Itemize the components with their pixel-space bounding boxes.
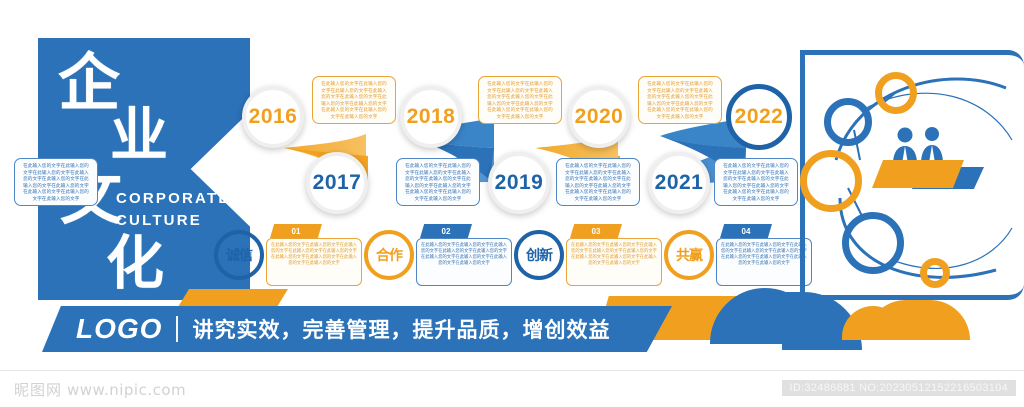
timeline-year-2021[interactable]: 2021 bbox=[648, 152, 710, 214]
value-number-tag: 04 bbox=[720, 224, 772, 238]
timeline: 2016 2017 2018 2019 2020 2021 2022 在此输入您… bbox=[236, 62, 796, 222]
value-text: 在此输入您的文字在此输入您的文字在此输入您的文字在此输入您的文字在此输入您的文字… bbox=[266, 238, 362, 286]
ribbon-divider bbox=[176, 316, 178, 342]
timeline-year-2016[interactable]: 2016 bbox=[242, 86, 304, 148]
watermark-site-url: www.nipic.com bbox=[67, 381, 186, 399]
timeline-year-2017[interactable]: 2017 bbox=[306, 152, 368, 214]
timeline-text-2020: 在此输入您的文字在此输入您的文字在此输入您的文字在此输入您的文字在此输入您的文字… bbox=[638, 76, 722, 124]
footer-watermark-bar: 昵图网 www.nipic.com ID:32486681 NO:2023051… bbox=[0, 370, 1024, 407]
value-pillar-gongying[interactable]: 共赢 04 在此输入您的文字在此输入您的文字在此输入您的文字在此输入您的文字在此… bbox=[664, 224, 814, 296]
slogan-text: 讲究实效，完善管理，提升品质，增创效益 bbox=[192, 314, 610, 344]
title-english-line1: CORPORATE bbox=[116, 188, 231, 210]
timeline-text-2021: 在此输入您的文字在此输入您的文字在此输入您的文字在此输入您的文字在此输入您的文字… bbox=[556, 158, 640, 206]
value-pillar-chengxin[interactable]: 诚信 01 在此输入您的文字在此输入您的文字在此输入您的文字在此输入您的文字在此… bbox=[214, 224, 364, 296]
value-ring-icon: 诚信 bbox=[214, 230, 264, 280]
site-watermark: 昵图网 www.nipic.com bbox=[14, 379, 186, 400]
timeline-text-2019: 在此输入您的文字在此输入您的文字在此输入您的文字在此输入您的文字在此输入您的文字… bbox=[396, 158, 480, 206]
value-number-tag: 02 bbox=[420, 224, 472, 238]
value-ring-icon: 创新 bbox=[514, 230, 564, 280]
value-number-tag: 03 bbox=[570, 224, 622, 238]
value-text: 在此输入您的文字在此输入您的文字在此输入您的文字在此输入您的文字在此输入您的文字… bbox=[416, 238, 512, 286]
poster-canvas: 企 业 文 化 CORPORATE CULTURE bbox=[0, 0, 1024, 406]
image-id-badge: ID:32486681 NO:20230512152216503104 bbox=[782, 380, 1016, 396]
bottom-ribbon: LOGO 讲究实效，完善管理，提升品质，增创效益 bbox=[42, 306, 672, 352]
value-word: 共赢 bbox=[676, 245, 702, 265]
value-word: 创新 bbox=[526, 245, 552, 265]
circle-ring-orange-1 bbox=[875, 72, 917, 114]
timeline-text-2016: 在此输入您的文字在此输入您的文字在此输入您的文字在此输入您的文字在此输入您的文字… bbox=[312, 76, 396, 124]
timeline-text-2022: 在此输入您的文字在此输入您的文字在此输入您的文字在此输入您的文字在此输入您的文字… bbox=[714, 158, 798, 206]
title-char-4: 化 bbox=[106, 234, 164, 292]
value-ring-icon: 共赢 bbox=[664, 230, 714, 280]
year-label: 2019 bbox=[495, 171, 544, 195]
logo-text: LOGO bbox=[76, 313, 162, 345]
timeline-year-2019[interactable]: 2019 bbox=[488, 152, 550, 214]
value-word: 合作 bbox=[376, 245, 402, 265]
year-label: 2017 bbox=[313, 171, 362, 195]
year-label: 2021 bbox=[655, 171, 704, 195]
value-pillars: 诚信 01 在此输入您的文字在此输入您的文字在此输入您的文字在此输入您的文字在此… bbox=[214, 224, 814, 296]
timeline-year-2022[interactable]: 2022 bbox=[726, 84, 792, 150]
year-label: 2022 bbox=[735, 105, 784, 129]
ribbon-accent-small bbox=[178, 289, 288, 307]
year-label: 2020 bbox=[575, 105, 624, 129]
circle-ring-orange-2 bbox=[800, 150, 862, 212]
watermark-site-name-cn: 昵图网 bbox=[14, 379, 62, 400]
artwork-area: 企 业 文 化 CORPORATE CULTURE bbox=[0, 0, 1024, 370]
circle-ring-blue-2 bbox=[842, 212, 904, 274]
timeline-text-2018: 在此输入您的文字在此输入您的文字在此输入您的文字在此输入您的文字在此输入您的文字… bbox=[478, 76, 562, 124]
value-pillar-chuangxin[interactable]: 创新 03 在此输入您的文字在此输入您的文字在此输入您的文字在此输入您的文字在此… bbox=[514, 224, 664, 296]
table-shape-orange bbox=[872, 160, 964, 188]
timeline-year-2018[interactable]: 2018 bbox=[400, 86, 462, 148]
value-pillar-hezuo[interactable]: 合作 02 在此输入您的文字在此输入您的文字在此输入您的文字在此输入您的文字在此… bbox=[364, 224, 514, 296]
value-ring-icon: 合作 bbox=[364, 230, 414, 280]
year-label: 2016 bbox=[249, 105, 298, 129]
title-char-2: 业 bbox=[110, 106, 168, 164]
value-number-tag: 01 bbox=[270, 224, 322, 238]
timeline-year-2020[interactable]: 2020 bbox=[568, 86, 630, 148]
year-label: 2018 bbox=[407, 105, 456, 129]
circle-ring-blue-1 bbox=[824, 98, 872, 146]
value-text: 在此输入您的文字在此输入您的文字在此输入您的文字在此输入您的文字在此输入您的文字… bbox=[566, 238, 662, 286]
value-word: 诚信 bbox=[226, 245, 252, 265]
timeline-text-2017: 在此输入您的文字在此输入您的文字在此输入您的文字在此输入您的文字在此输入您的文字… bbox=[14, 158, 98, 206]
circle-ring-orange-3 bbox=[920, 258, 950, 288]
